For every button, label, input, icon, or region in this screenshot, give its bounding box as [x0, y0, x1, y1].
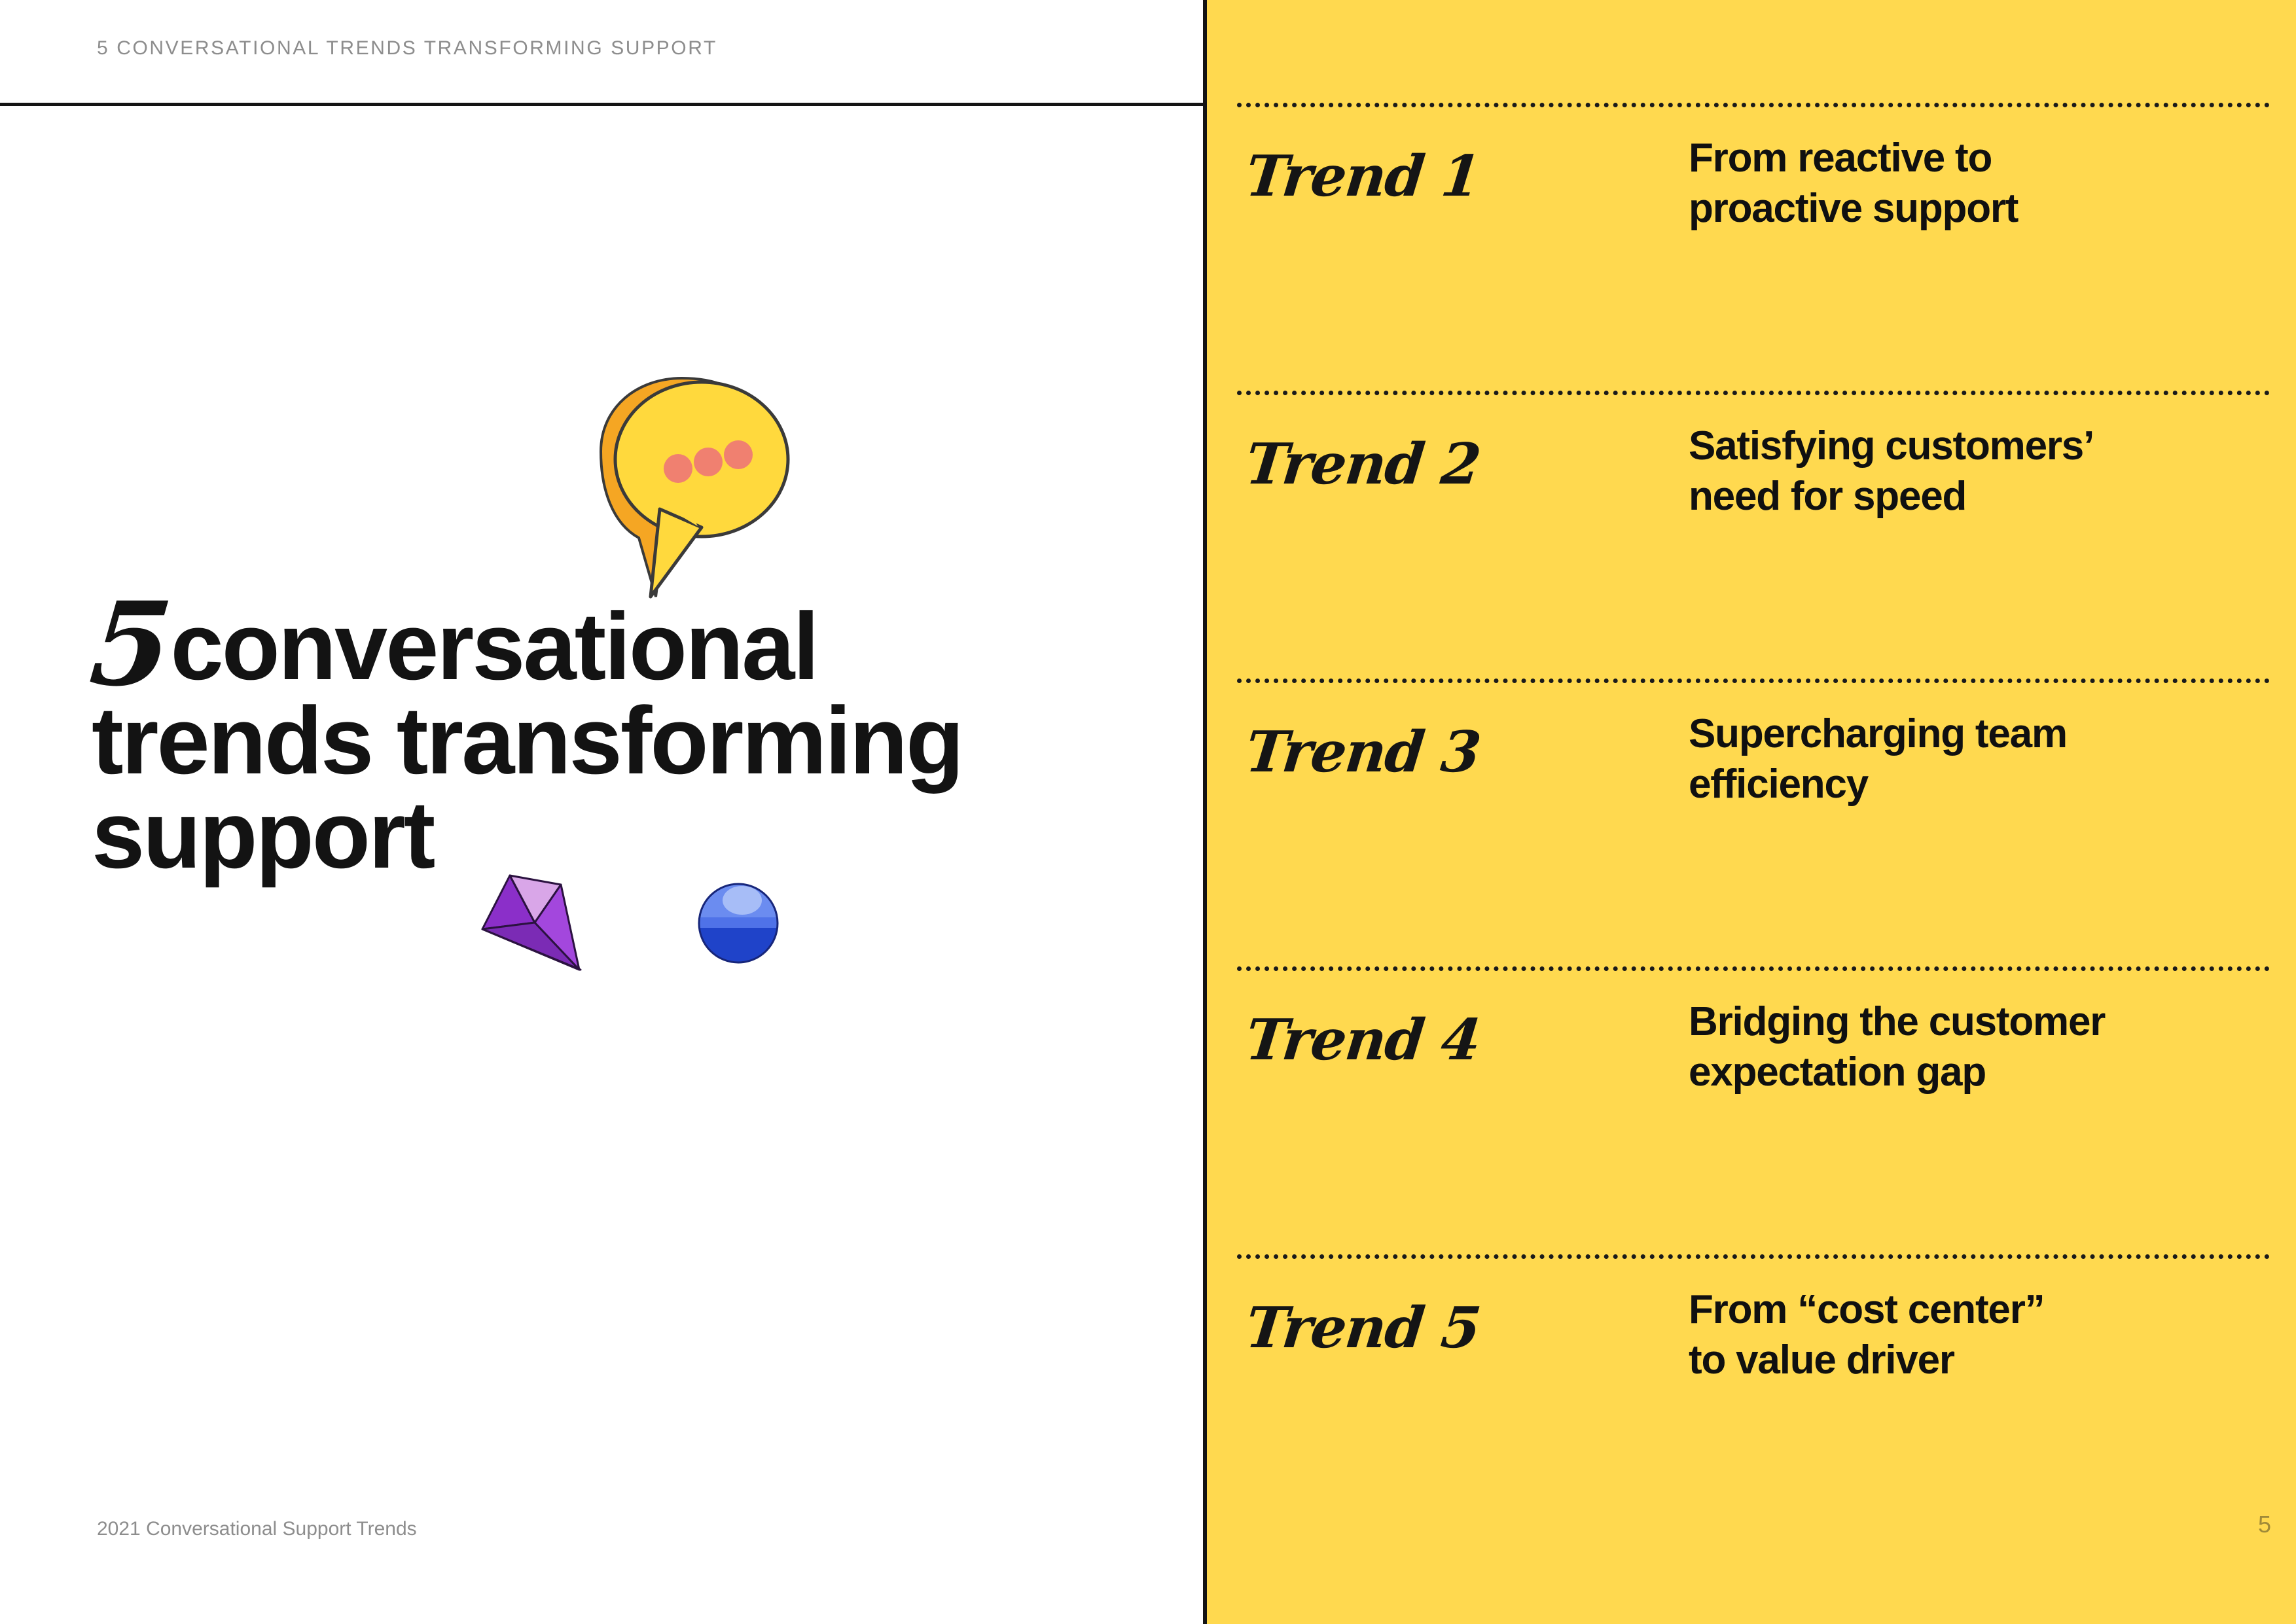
- speech-bubble-icon: [583, 366, 805, 602]
- trend-panel: Trend 1 From reactive toproactive suppor…: [1207, 0, 2296, 1624]
- trend-label: Trend 5: [1243, 1295, 1483, 1361]
- trend-label: Trend 3: [1243, 719, 1483, 785]
- page-number: 5: [2258, 1511, 2271, 1538]
- trend-row[interactable]: Trend 2 Satisfying customers’need for sp…: [1237, 391, 2270, 679]
- title-line-1: 5conversational: [92, 592, 1073, 694]
- sphere-icon: [691, 874, 789, 972]
- trend-divider: [1237, 966, 2270, 971]
- trend-description: From “cost center”to value driver: [1689, 1284, 2251, 1385]
- trend-description: Supercharging teamefficiency: [1689, 709, 2251, 809]
- page-title: 5conversational trends transforming supp…: [92, 592, 1073, 882]
- trend-row[interactable]: Trend 3 Supercharging teamefficiency: [1237, 679, 2270, 966]
- trend-divider: [1237, 1254, 2270, 1259]
- left-pane: 5 CONVERSATIONAL TRENDS TRANSFORMING SUP…: [0, 0, 1206, 1624]
- footer-note: 2021 Conversational Support Trends: [97, 1518, 417, 1540]
- eyebrow-header: 5 CONVERSATIONAL TRENDS TRANSFORMING SUP…: [97, 37, 717, 60]
- trend-divider: [1237, 679, 2270, 683]
- bubble-dot-2: [694, 448, 723, 476]
- trend-row[interactable]: Trend 1 From reactive toproactive suppor…: [1237, 103, 2270, 391]
- trend-description: Satisfying customers’need for speed: [1689, 421, 2251, 521]
- trend-description: Bridging the customerexpectation gap: [1689, 997, 2251, 1097]
- trend-row[interactable]: Trend 5 From “cost center”to value drive…: [1237, 1254, 2270, 1542]
- slide-canvas: 5 CONVERSATIONAL TRENDS TRANSFORMING SUP…: [0, 0, 2296, 1624]
- trend-description: From reactive toproactive support: [1689, 133, 2251, 234]
- bubble-dot-1: [664, 454, 692, 483]
- trend-label: Trend 4: [1243, 1007, 1483, 1073]
- octahedron-icon: [481, 851, 664, 1053]
- title-numeral: 5: [87, 597, 171, 692]
- trend-divider: [1237, 103, 2270, 107]
- trend-label: Trend 2: [1243, 431, 1483, 497]
- header-divider-rule: [0, 103, 1206, 106]
- trend-divider: [1237, 391, 2270, 395]
- title-line-1-text: conversational: [170, 593, 817, 699]
- trend-label: Trend 1: [1243, 143, 1483, 209]
- trend-row[interactable]: Trend 4 Bridging the customerexpectation…: [1237, 966, 2270, 1254]
- bubble-dot-3: [724, 440, 753, 469]
- title-line-2: trends transforming: [92, 694, 1073, 788]
